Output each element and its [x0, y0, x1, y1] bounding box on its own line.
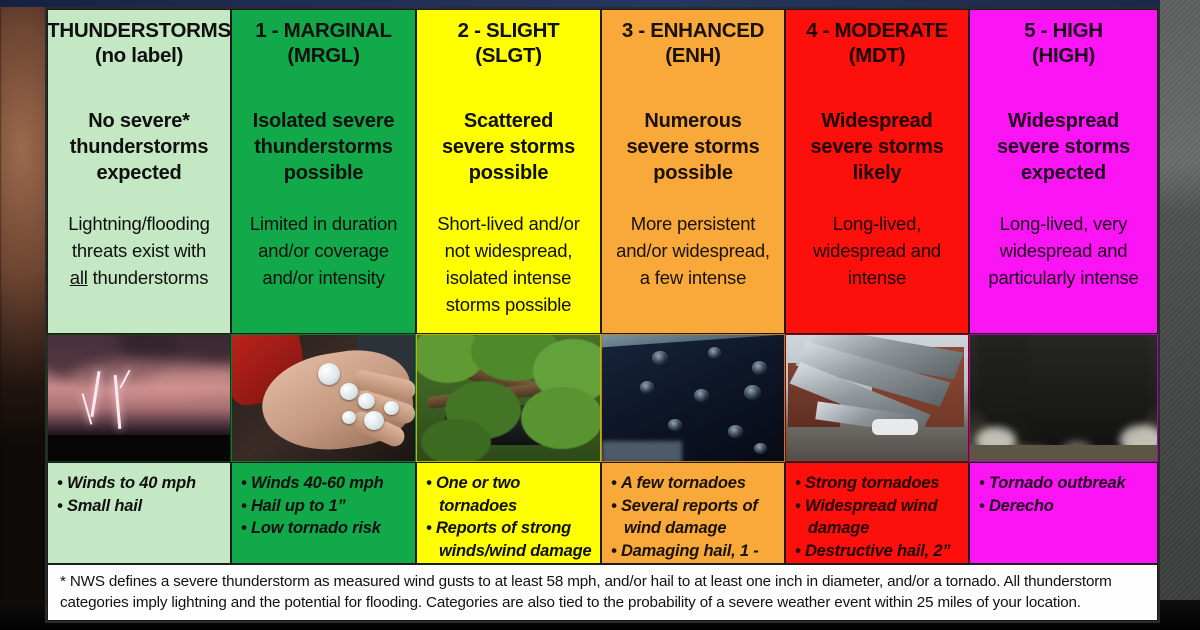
bullet-item: Damaging hail, 1 - 2” [611, 540, 778, 565]
category-header-thunderstorms[interactable]: THUNDERSTORMS (no label) No severe*thund… [47, 9, 231, 334]
category-summary: Isolated severethunderstormspossible [253, 108, 395, 186]
category-summary: Widespreadsevere stormsexpected [997, 108, 1130, 186]
bullet-item: One or two tornadoes [426, 472, 594, 517]
category-description: More persistent and/or widespread, a few… [616, 210, 770, 291]
bullet-item: Winds to 40 mph [57, 472, 224, 495]
footnote-line-1: * NWS defines a severe thunderstorm as m… [60, 571, 1147, 592]
category-header-moderate[interactable]: 4 - MODERATE (MDT) Widespreadsevere stor… [785, 9, 969, 334]
category-title-text: 3 - ENHANCED [622, 19, 764, 42]
footnote-row: * NWS defines a severe thunderstorm as m… [47, 564, 1158, 621]
bullet-item: Derecho [979, 495, 1151, 518]
photo-cell-moderate [785, 334, 969, 462]
category-header-high[interactable]: 5 - HIGH (HIGH) Widespreadsevere stormse… [969, 9, 1158, 334]
background-right-texture [1160, 0, 1200, 630]
desc-line: widespread and [813, 240, 941, 261]
bullet-item: Destructive hail, 2” + [795, 540, 962, 565]
bullet-item: Several reports of wind damage [611, 495, 778, 540]
screenshot-stage: THUNDERSTORMS (no label) No severe*thund… [0, 0, 1200, 630]
category-header-row: THUNDERSTORMS (no label) No severe*thund… [47, 9, 1158, 334]
desc-line: and/or intensity [262, 267, 384, 288]
category-title-sub: (MDT) [849, 44, 906, 67]
bullet-list: Winds to 40 mph Small hail [57, 472, 224, 517]
bullet-item: A few tornadoes [611, 472, 778, 495]
bullet-item: Small hail [57, 495, 224, 518]
category-title: 3 - ENHANCED (ENH) [622, 18, 764, 68]
category-title-sub: (MRGL) [287, 44, 359, 67]
desc-underlined-word: all [70, 267, 88, 288]
category-title-sub: (SLGT) [475, 44, 542, 67]
photo-cell-high [969, 334, 1158, 462]
desc-line: Long-lived, [833, 213, 921, 234]
desc-line: and/or widespread, [616, 240, 770, 261]
hail-stones-in-hand-photo [232, 335, 415, 461]
desc-line: threats exist with [72, 240, 206, 261]
category-title-sub: (no label) [95, 44, 183, 67]
footnote-line-2: categories imply lightning and the poten… [60, 592, 1147, 613]
category-title: THUNDERSTORMS (no label) [47, 18, 231, 68]
category-summary: Numeroussevere stormspossible [626, 108, 759, 186]
category-title-text: 1 - MARGINAL [255, 19, 391, 42]
desc-line: intense [848, 267, 906, 288]
desc-line: Short-lived and/or [437, 213, 579, 234]
bullets-slight: One or two tornadoes Reports of strong w… [416, 462, 601, 564]
photo-cell-thunderstorms [47, 334, 231, 462]
category-title-sub: (HIGH) [1032, 44, 1095, 67]
bullets-thunderstorms: Winds to 40 mph Small hail [47, 462, 231, 564]
photo-cell-marginal [231, 334, 416, 462]
bullet-item: Hail up to 1” [241, 495, 409, 518]
category-summary: No severe*thunderstormsexpected [70, 108, 209, 186]
desc-line: More persistent [631, 213, 756, 234]
photo-cell-enhanced [601, 334, 785, 462]
desc-line: not widespread, [445, 240, 573, 261]
risk-category-table: THUNDERSTORMS (no label) No severe*thund… [45, 7, 1160, 623]
category-title: 4 - MODERATE (MDT) [806, 18, 948, 68]
category-header-enhanced[interactable]: 3 - ENHANCED (ENH) Numeroussevere storms… [601, 9, 785, 334]
desc-line: Lightning/flooding [68, 213, 209, 234]
bullet-list: Winds 40-60 mph Hail up to 1” Low tornad… [241, 472, 409, 540]
bullet-item: Hail ~1”, isolated 2” [426, 562, 594, 564]
category-description: Short-lived and/or not widespread, isola… [437, 210, 579, 318]
category-title: 1 - MARGINAL (MRGL) [255, 18, 391, 68]
bullet-list: A few tornadoes Several reports of wind … [611, 472, 778, 564]
desc-line: and/or coverage [258, 240, 389, 261]
category-summary: Scatteredsevere stormspossible [442, 108, 575, 186]
category-title-text: 2 - SLIGHT [458, 19, 560, 42]
footnote: * NWS defines a severe thunderstorm as m… [47, 564, 1158, 621]
desc-line: storms possible [446, 294, 572, 315]
roof-torn-off-building-photo [786, 335, 968, 461]
bullet-list: Tornado outbreak Derecho [979, 472, 1151, 517]
desc-line: isolated intense [446, 267, 571, 288]
bullet-item: Tornado outbreak [979, 472, 1151, 495]
bullets-enhanced: A few tornadoes Several reports of wind … [601, 462, 785, 564]
category-description: Long-lived, very widespread and particul… [988, 210, 1138, 291]
category-header-slight[interactable]: 2 - SLIGHT (SLGT) Scatteredsevere storms… [416, 9, 601, 334]
category-description: Limited in duration and/or coverage and/… [250, 210, 397, 291]
bullet-item: Reports of strong winds/wind damage [426, 517, 594, 562]
bullets-marginal: Winds 40-60 mph Hail up to 1” Low tornad… [231, 462, 416, 564]
category-title-text: 5 - HIGH [1024, 19, 1102, 42]
bullet-item: Widespread wind damage [795, 495, 962, 540]
bullets-moderate: Strong tornadoes Widespread wind damage … [785, 462, 969, 564]
desc-line: a few intense [640, 267, 746, 288]
background-top-bar [0, 0, 1200, 7]
bullet-list: Strong tornadoes Widespread wind damage … [795, 472, 962, 564]
wedge-tornado-photo [970, 335, 1157, 461]
bullet-item: Low tornado risk [241, 517, 409, 540]
example-photo-row [47, 334, 1158, 462]
category-title-text: 4 - MODERATE [806, 19, 948, 42]
category-description: Lightning/flooding threats exist with al… [68, 210, 209, 291]
category-description: Long-lived, widespread and intense [813, 210, 941, 291]
category-title: 2 - SLIGHT (SLGT) [458, 18, 560, 68]
category-summary: Widespreadsevere stormslikely [810, 108, 943, 186]
bullet-list: One or two tornadoes Reports of strong w… [426, 472, 594, 564]
category-title: 5 - HIGH (HIGH) [1024, 18, 1102, 68]
tree-fallen-on-car-photo [417, 335, 600, 461]
category-title-text: THUNDERSTORMS [47, 19, 231, 42]
bullets-high: Tornado outbreak Derecho [969, 462, 1158, 564]
desc-line: particularly intense [988, 267, 1138, 288]
bullet-item: Strong tornadoes [795, 472, 962, 495]
bullet-item: Winds 40-60 mph [241, 472, 409, 495]
category-header-marginal[interactable]: 1 - MARGINAL (MRGL) Isolated severethund… [231, 9, 416, 334]
desc-line: Long-lived, very [1000, 213, 1127, 234]
desc-line: Limited in duration [250, 213, 397, 234]
category-title-sub: (ENH) [665, 44, 720, 67]
hail-damaged-car-hood-photo [602, 335, 784, 461]
lightning-over-plains-photo [48, 335, 230, 461]
impact-bullets-row: Winds to 40 mph Small hail Winds 40-60 m… [47, 462, 1158, 564]
desc-line: widespread and [1000, 240, 1128, 261]
photo-cell-slight [416, 334, 601, 462]
